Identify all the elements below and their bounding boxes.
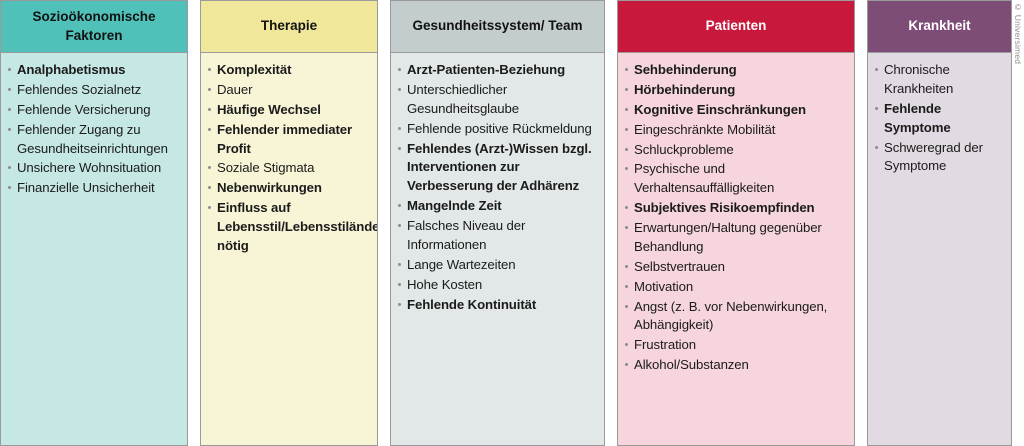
list-item: Fehlender Zugang zu Gesundheitseinrichtu…: [6, 121, 181, 159]
list-item: Mangelnde Zeit: [396, 197, 598, 216]
list-item: Arzt-Patienten-Beziehung: [396, 61, 598, 80]
list-item: Nebenwirkungen: [206, 179, 371, 198]
list-item: Alkohol/Substanzen: [623, 356, 848, 375]
list-item: Kognitive Einschränkungen: [623, 101, 848, 120]
list-item: Schweregrad der Symptome: [873, 139, 1005, 177]
list-item: Sehbehinderung: [623, 61, 848, 80]
item-list-sozialfaktoren: Analphabetismus Fehlendes Sozialnetz Feh…: [6, 61, 181, 198]
list-item: Selbstvertrauen: [623, 258, 848, 277]
column-body-patienten: Sehbehinderung Hörbehinderung Kognitive …: [618, 53, 854, 445]
list-item: Motivation: [623, 278, 848, 297]
copyright-credit: © Universimed: [1013, 2, 1023, 64]
list-item: Chronische Krankheiten: [873, 61, 1005, 99]
list-item: Hohe Kosten: [396, 276, 598, 295]
list-item: Fehlende Symptome: [873, 100, 1005, 138]
list-item: Fehlendes Sozialnetz: [6, 81, 181, 100]
list-item: Häufige Wechsel: [206, 101, 371, 120]
list-item: Analphabetismus: [6, 61, 181, 80]
list-item: Fehlende positive Rückmeldung: [396, 120, 598, 139]
column-body-therapie: Komplexität Dauer Häufige Wechsel Fehlen…: [201, 53, 377, 445]
column-body-gesundheitssystem-team: Arzt-Patienten-Beziehung Unterschiedlich…: [391, 53, 604, 445]
column-gesundheitssystem-team: Gesundheitssystem/ Team Arzt-Patienten-B…: [390, 0, 605, 446]
list-item: Einfluss auf Lebensstil/Lebensstiländeru…: [206, 199, 371, 256]
list-item: Frustration: [623, 336, 848, 355]
item-list-krankheit: Chronische Krankheiten Fehlende Symptome…: [873, 61, 1005, 176]
column-body-sozialfaktoren: Analphabetismus Fehlendes Sozialnetz Feh…: [1, 53, 187, 445]
list-item: Schluckprobleme: [623, 141, 848, 160]
list-item: Fehlende Versicherung: [6, 101, 181, 120]
list-item: Hörbehinderung: [623, 81, 848, 100]
list-item: Finanzielle Unsicherheit: [6, 179, 181, 198]
list-item: Falsches Niveau der Informationen: [396, 217, 598, 255]
list-item: Fehlendes (Arzt-)Wissen bzgl. Interventi…: [396, 140, 598, 197]
list-item: Unsichere Wohnsituation: [6, 159, 181, 178]
list-item: Komplexität: [206, 61, 371, 80]
column-krankheit: Krankheit Chronische Krankheiten Fehlend…: [867, 0, 1012, 446]
item-list-therapie: Komplexität Dauer Häufige Wechsel Fehlen…: [206, 61, 371, 256]
column-therapie: Therapie Komplexität Dauer Häufige Wechs…: [200, 0, 378, 446]
column-body-krankheit: Chronische Krankheiten Fehlende Symptome…: [868, 53, 1011, 445]
list-item: Psychische und Verhaltensauffälligkeiten: [623, 160, 848, 198]
list-item: Angst (z. B. vor Nebenwirkungen, Abhängi…: [623, 298, 848, 336]
list-item: Unterschiedlicher Gesundheitsglaube: [396, 81, 598, 119]
column-header-sozialfaktoren: Sozioökonomische Faktoren: [1, 1, 187, 53]
list-item: Eingeschränkte Mobilität: [623, 121, 848, 140]
list-item: Fehlender immediater Profit: [206, 121, 371, 159]
item-list-gesundheitssystem-team: Arzt-Patienten-Beziehung Unterschiedlich…: [396, 61, 598, 314]
column-header-krankheit: Krankheit: [868, 1, 1011, 53]
list-item: Erwartungen/Haltung gegenüber Behandlung: [623, 219, 848, 257]
adherence-factors-diagram: Sozioökonomische Faktoren Analphabetismu…: [0, 0, 1024, 446]
column-header-gesundheitssystem-team: Gesundheitssystem/ Team: [391, 1, 604, 53]
column-sozialfaktoren: Sozioökonomische Faktoren Analphabetismu…: [0, 0, 188, 446]
column-patienten: Patienten Sehbehinderung Hörbehinderung …: [617, 0, 855, 446]
list-item: Soziale Stigmata: [206, 159, 371, 178]
item-list-patienten: Sehbehinderung Hörbehinderung Kognitive …: [623, 61, 848, 375]
list-item: Dauer: [206, 81, 371, 100]
column-header-therapie: Therapie: [201, 1, 377, 53]
list-item: Subjektives Risikoempfinden: [623, 199, 848, 218]
list-item: Lange Wartezeiten: [396, 256, 598, 275]
list-item: Fehlende Kontinuität: [396, 296, 598, 315]
column-header-patienten: Patienten: [618, 1, 854, 53]
